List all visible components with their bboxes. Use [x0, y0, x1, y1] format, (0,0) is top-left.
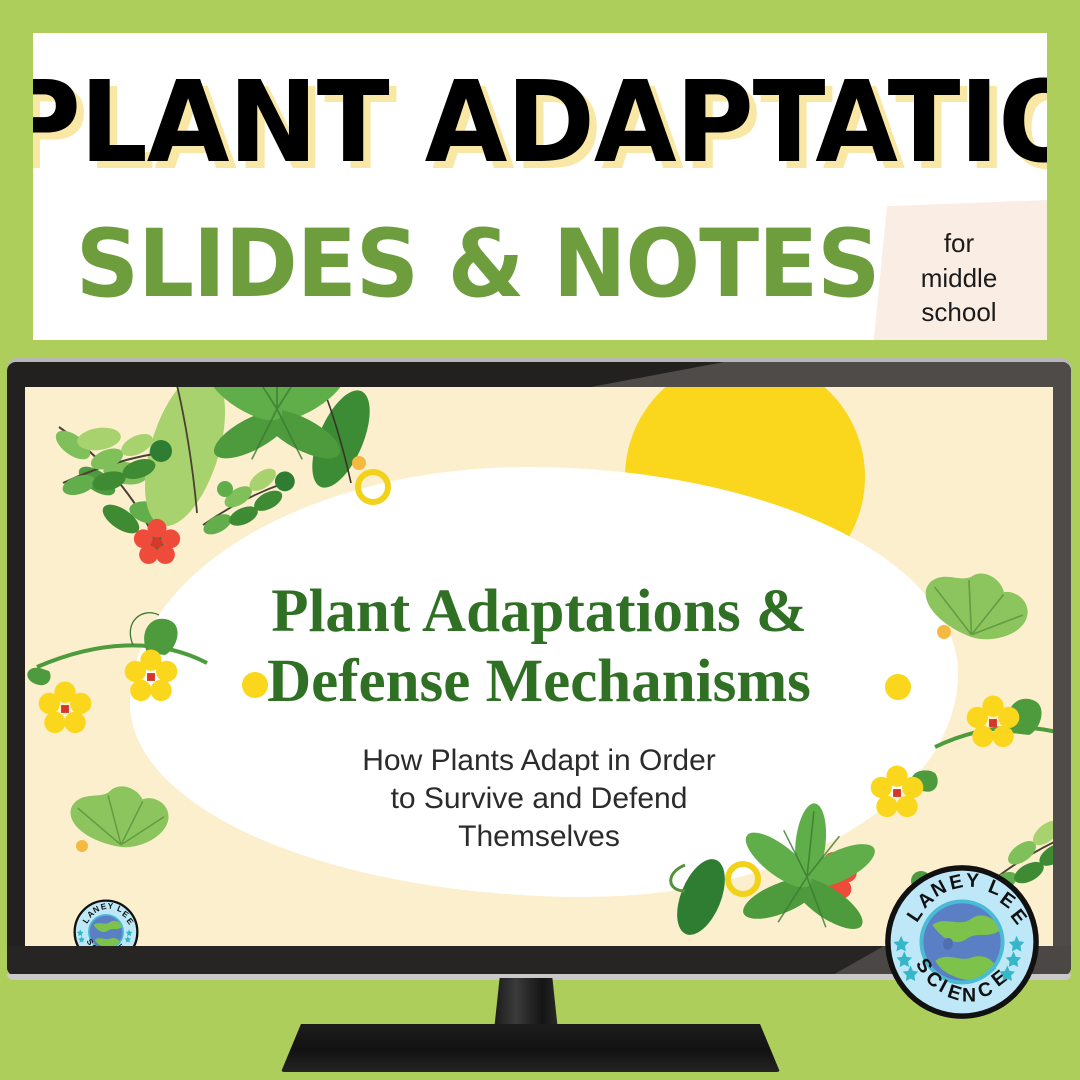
- svg-text:N: N: [962, 984, 976, 1006]
- page-title: PLANT ADAPTATIONS: [33, 67, 1047, 179]
- svg-text:Y: Y: [966, 870, 980, 892]
- brand-logo-icon: L A N E Y L E E S C I E N C E: [73, 899, 139, 947]
- brand-logo-badge-icon: L A N E Y L E E S C I E N C E: [884, 864, 1040, 1020]
- svg-text:Y: Y: [108, 902, 114, 911]
- slide-title: Plant Adaptations & Defense Mechanisms: [25, 577, 1053, 716]
- slide-subtitle: How Plants Adapt in Order to Survive and…: [25, 742, 1053, 855]
- tv-stand-base: [281, 1024, 780, 1072]
- header-panel: PLANT ADAPTATIONS SLIDES & NOTES for mid…: [33, 33, 1047, 340]
- audience-tag-label: for middle school: [861, 226, 1047, 330]
- poster-root: PLANT ADAPTATIONS SLIDES & NOTES for mid…: [0, 0, 1080, 1080]
- slide-screen: Plant Adaptations & Defense Mechanisms H…: [25, 387, 1053, 947]
- audience-tag: for middle school: [861, 200, 1047, 340]
